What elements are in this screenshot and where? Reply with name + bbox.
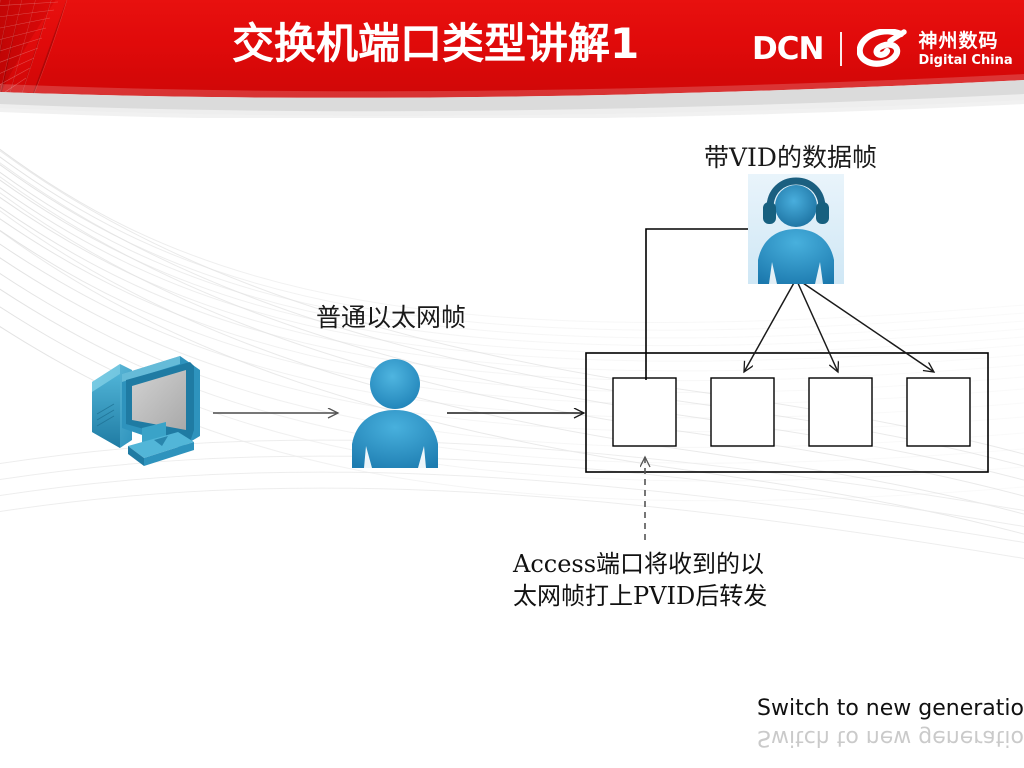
caption-line-1: Access端口将收到的以 [513, 548, 767, 580]
switch-port-3 [809, 378, 872, 446]
slide-canvas: 交换机端口类型讲解1 DCN 神州数码 Digital China [0, 0, 1024, 768]
arrow-headset-to-port2 [744, 281, 795, 372]
user-person-icon [342, 356, 448, 468]
arrow-headset-to-port4 [800, 281, 934, 372]
caption-line-2: 太网帧打上PVID后转发 [513, 580, 767, 612]
switch-port-1 [613, 378, 676, 446]
brand-name-cn: 神州数码 [918, 32, 1012, 51]
caption-access-port: Access端口将收到的以 太网帧打上PVID后转发 [513, 548, 767, 612]
brand-name-en: Digital China [918, 54, 1012, 67]
desktop-computer-icon [82, 352, 210, 476]
label-vid-tagged-frame: 带VID的数据帧 [704, 138, 877, 174]
switch-body [586, 353, 988, 472]
label-plain-ethernet-frame: 普通以太网帧 [316, 298, 466, 334]
switch-port-2 [711, 378, 774, 446]
switch-port-4 [907, 378, 970, 446]
dcn-wordmark: DCN [752, 34, 823, 65]
brand-logo: DCN 神州数码 Digital China [752, 26, 1013, 72]
headset-user-icon [748, 174, 844, 284]
logo-divider [840, 32, 842, 66]
arrow-headset-to-port3 [797, 281, 838, 372]
footer-tagline-reflection: Switch to new generation [757, 716, 1024, 760]
footer-reflection-text: Switch to new generation [757, 726, 1024, 751]
swoosh-spiral-icon [857, 29, 909, 69]
brand-names: 神州数码 Digital China [918, 32, 1012, 67]
page-title: 交换机端口类型讲解1 [232, 18, 639, 70]
